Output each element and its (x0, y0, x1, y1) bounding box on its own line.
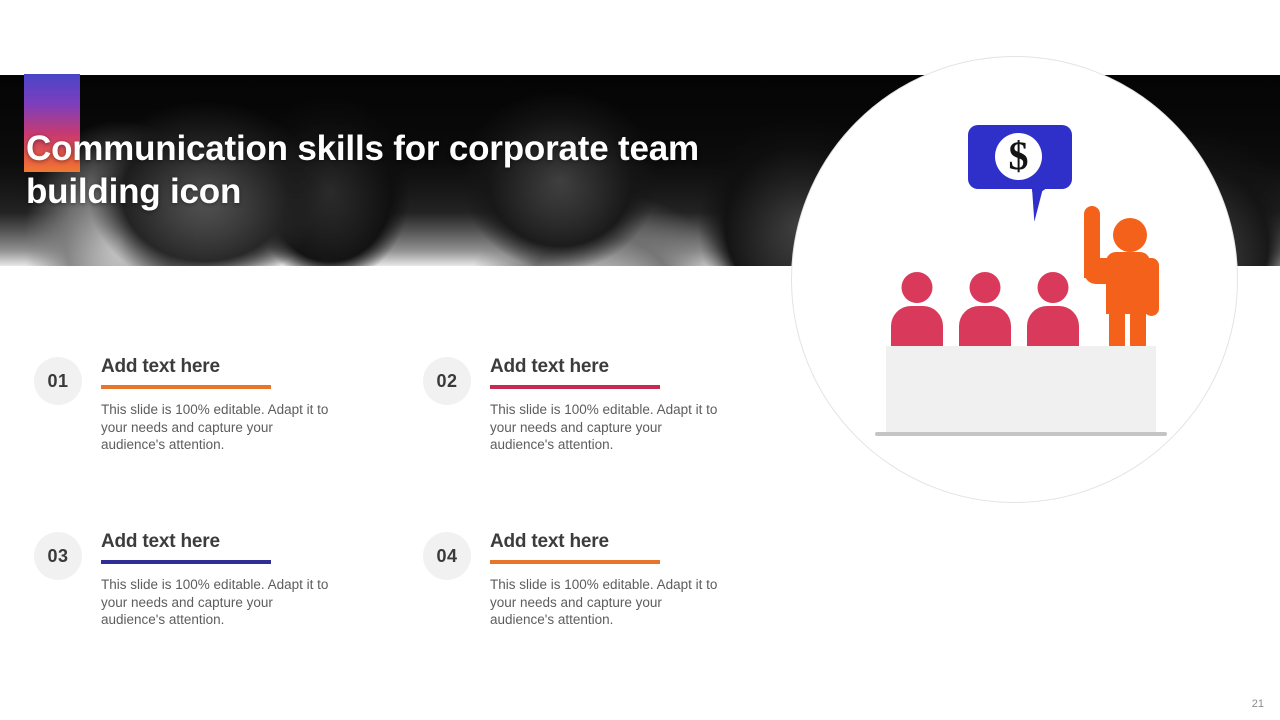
presenter-head-icon (1113, 218, 1147, 252)
item-body: Add text here This slide is 100% editabl… (490, 355, 752, 454)
audience-body-icon (891, 306, 943, 347)
audience-head-icon (970, 272, 1001, 303)
item-underline (101, 385, 271, 389)
audience-body-icon (959, 306, 1011, 347)
illustration-content: $ (792, 57, 1237, 502)
item-number-badge: 01 (34, 357, 82, 405)
dollar-sign-icon: $ (995, 133, 1042, 180)
item-heading: Add text here (101, 355, 363, 379)
audience-figure-2 (959, 272, 1011, 347)
audience-figure-1 (891, 272, 943, 347)
podium-base-icon (875, 432, 1167, 436)
content-items: 01 Add text here This slide is 100% edit… (0, 0, 800, 720)
item-number-badge: 02 (423, 357, 471, 405)
page-number: 21 (1252, 698, 1264, 710)
page-title: Communication skills for corporate team … (26, 127, 806, 213)
item-heading: Add text here (101, 530, 363, 554)
item-description: This slide is 100% editable. Adapt it to… (490, 576, 722, 629)
podium-icon (886, 346, 1156, 432)
audience-figure-3 (1027, 272, 1079, 347)
item-number-badge: 04 (423, 532, 471, 580)
item-description: This slide is 100% editable. Adapt it to… (101, 401, 333, 454)
presenter-right-leg-icon (1130, 310, 1146, 348)
item-description: This slide is 100% editable. Adapt it to… (101, 576, 333, 629)
presenter-left-leg-icon (1109, 310, 1125, 348)
audience-head-icon (902, 272, 933, 303)
item-description: This slide is 100% editable. Adapt it to… (490, 401, 722, 454)
item-heading: Add text here (490, 355, 752, 379)
item-heading: Add text here (490, 530, 752, 554)
item-underline (101, 560, 271, 564)
presenter-side-arm-icon (1144, 258, 1159, 316)
audience-head-icon (1038, 272, 1069, 303)
illustration-circle: $ (791, 56, 1238, 503)
slide-canvas: Communication skills for corporate team … (0, 0, 1280, 720)
item-underline (490, 385, 660, 389)
audience-body-icon (1027, 306, 1079, 347)
item-body: Add text here This slide is 100% editabl… (490, 530, 752, 629)
presenter-figure-icon (1080, 206, 1160, 348)
item-number-badge: 03 (34, 532, 82, 580)
item-body: Add text here This slide is 100% editabl… (101, 530, 363, 629)
item-body: Add text here This slide is 100% editabl… (101, 355, 363, 454)
item-underline (490, 560, 660, 564)
speech-bubble-tail-icon (1032, 182, 1059, 222)
dollar-glyph: $ (1009, 136, 1029, 176)
